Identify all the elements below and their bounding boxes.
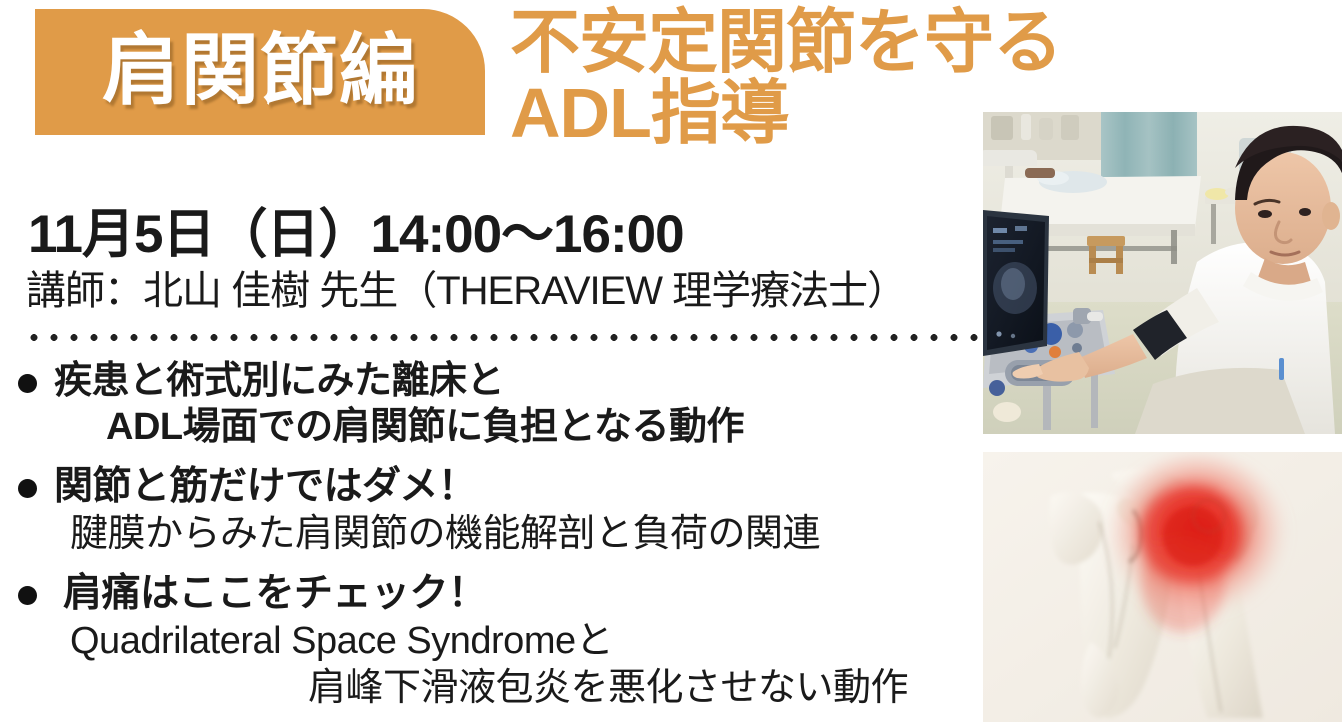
topic-item: 肩痛はここをチェック！ Quadrilateral Space Syndrome…: [18, 570, 978, 712]
page-title-line-1: 不安定関節を守る: [510, 8, 980, 77]
topic-subtitle: 腱膜からみた肩関節の機能解剖と負荷の関連: [18, 511, 978, 558]
dotted-divider: [24, 334, 979, 341]
page-title: 不安定関節を守る ADL指導: [510, 8, 980, 147]
shoulder-anatomy-illustration: [983, 452, 1342, 722]
topic-item: 疾患と術式別にみた離床と ADL場面での肩関節に負担となる動作: [18, 358, 978, 451]
topic-title: 肩痛はここをチェック！: [63, 570, 487, 618]
seminar-flyer: 肩関節編 不安定関節を守る ADL指導 11月5日（日）14:00〜16:00 …: [0, 0, 1342, 722]
bullet-dot-icon: [18, 479, 37, 498]
series-badge-label: 肩関節編: [102, 31, 418, 113]
topic-subtitle-continued: 肩峰下滑液包炎を悪化させない動作: [18, 665, 978, 712]
topic-list: 疾患と術式別にみた離床と ADL場面での肩関節に負担となる動作 関節と筋だけでは…: [18, 358, 978, 724]
series-badge: 肩関節編: [35, 9, 485, 135]
event-datetime: 11月5日（日）14:00〜16:00: [28, 192, 684, 268]
shoulder-joint-model-photo: [983, 452, 1342, 722]
topic-title: 疾患と術式別にみた離床と: [54, 358, 504, 404]
lecturer-line: 講師：北山 佳樹 先生（THERAVIEW 理学療法士）: [26, 258, 906, 316]
topic-subtitle: Quadrilateral Space Syndromeと: [18, 618, 978, 665]
page-title-line-2: ADL指導: [510, 79, 980, 148]
topic-item: 関節と筋だけではダメ！ 腱膜からみた肩関節の機能解剖と負荷の関連: [18, 463, 978, 558]
topic-title: 関節と筋だけではダメ！: [54, 463, 476, 511]
flyer-text-column: 肩関節編 不安定関節を守る ADL指導 11月5日（日）14:00〜16:00 …: [0, 0, 985, 722]
bullet-dot-icon: [18, 374, 37, 393]
bullet-dot-icon: [18, 586, 37, 605]
topic-subtitle: ADL場面での肩関節に負担となる動作: [18, 404, 978, 451]
ultrasound-demonstration-photo: [983, 112, 1342, 434]
clinic-scene-illustration: [983, 112, 1342, 434]
